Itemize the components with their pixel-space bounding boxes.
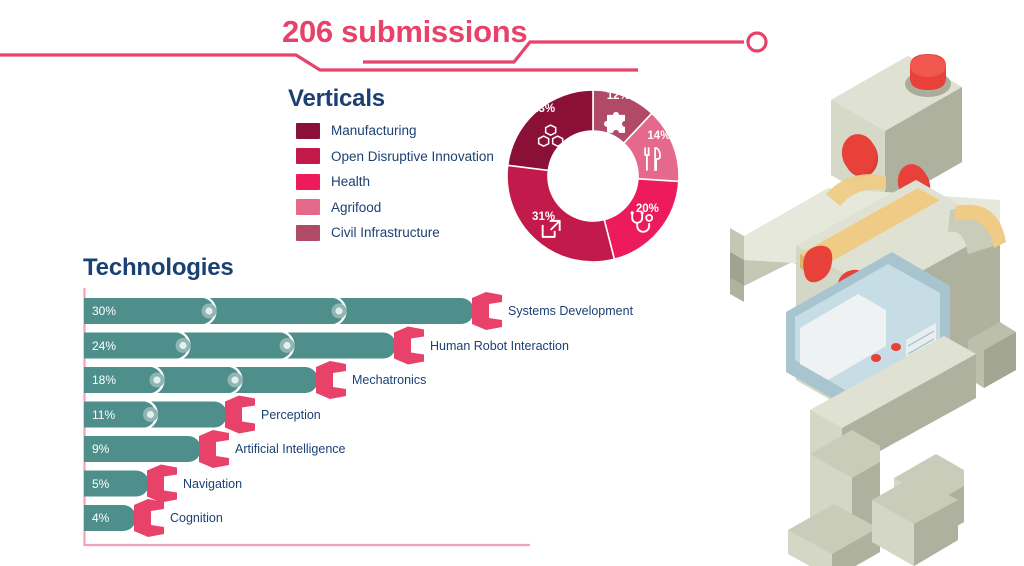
bar-label-navigation: Navigation (183, 477, 242, 491)
bar-value-human-robot-interaction: 24% (92, 339, 116, 353)
bar-label-systems-development: Systems Development (508, 304, 633, 318)
bar-label-artificial-intelligence: Artificial Intelligence (235, 442, 345, 456)
gripper-icon-cognition (134, 499, 164, 537)
bar-value-systems-development: 30% (92, 304, 116, 318)
robot-left-leg (788, 430, 880, 566)
bar-label-perception: Perception (261, 408, 321, 422)
bar-joint-inner (205, 307, 212, 314)
gripper-icon-human-robot-interaction (394, 327, 424, 365)
isometric-robot-illustration (700, 40, 1024, 566)
robot-right-leg (872, 454, 964, 566)
bar-value-cognition: 4% (92, 511, 109, 525)
bar-joint-inner (335, 307, 342, 314)
bar-joint-inner (283, 342, 290, 349)
bar-value-navigation: 5% (92, 477, 109, 491)
bar-value-perception: 11% (92, 408, 115, 422)
gripper-icon-systems-development (472, 292, 502, 330)
gripper-icon-navigation (147, 465, 177, 503)
gripper-icon-perception (225, 396, 255, 434)
infographic-canvas: 206 submissions Verticals Manufacturing … (0, 0, 1024, 566)
bar-human-robot-interaction[interactable] (84, 333, 396, 359)
bar-mechatronics[interactable] (84, 367, 318, 393)
bar-systems-development[interactable] (84, 298, 474, 324)
gripper-icon-mechatronics (316, 361, 346, 399)
bar-label-mechatronics: Mechatronics (352, 373, 426, 387)
bar-value-mechatronics: 18% (92, 373, 116, 387)
bar-joint-inner (179, 342, 186, 349)
bar-value-artificial-intelligence: 9% (92, 442, 109, 456)
bar-label-cognition: Cognition (170, 511, 223, 525)
bar-joint-inner (231, 376, 238, 383)
bar-label-human-robot-interaction: Human Robot Interaction (430, 339, 569, 353)
bar-joint-inner (153, 376, 160, 383)
gripper-icon-artificial-intelligence (199, 430, 229, 468)
bar-joint-inner (147, 411, 154, 418)
